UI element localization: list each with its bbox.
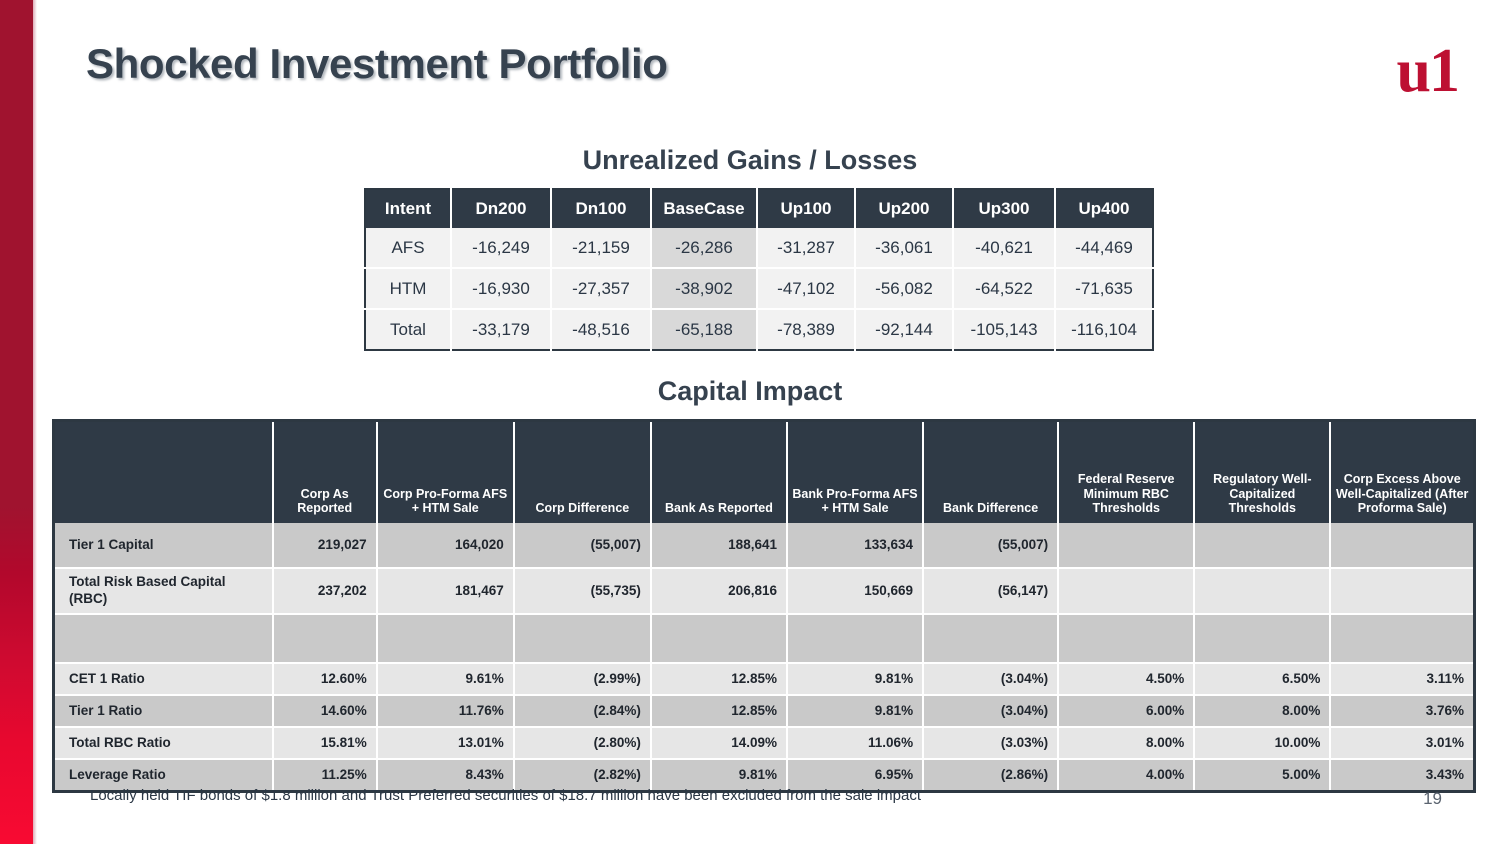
cell-dn200: -16,249 [451,228,551,268]
column-header-up300: Up300 [953,189,1055,228]
data-cell: 3.11% [1330,663,1474,695]
data-cell: 133,634 [787,523,923,568]
cell-up400: -116,104 [1055,309,1153,350]
cell-basecase: -26,286 [651,228,757,268]
column-header-well-capitalized: Regulatory Well-Capitalized Thresholds [1194,421,1330,524]
data-cell: 9.61% [377,663,514,695]
cell-up400: -44,469 [1055,228,1153,268]
table-row: Total Risk Based Capital (RBC)237,202181… [54,568,1475,614]
data-cell: 206,816 [651,568,787,614]
cell-basecase: -65,188 [651,309,757,350]
table-header-row: Corp As Reported Corp Pro-Forma AFS + HT… [54,421,1475,524]
column-header-row-label [54,421,273,524]
cell-dn100: -27,357 [551,268,651,309]
data-cell [1058,568,1194,614]
table-row: AFS -16,249 -21,159 -26,286 -31,287 -36,… [365,228,1153,268]
page-number: 19 [1423,789,1442,809]
data-cell [1058,523,1194,568]
column-header-up200: Up200 [855,189,953,228]
cell-dn200: -33,179 [451,309,551,350]
column-header-bank-as-reported: Bank As Reported [651,421,787,524]
data-cell: 219,027 [273,523,377,568]
capital-impact-table: Corp As Reported Corp Pro-Forma AFS + HT… [52,419,1476,793]
data-cell: 13.01% [377,727,514,759]
table-row: Tier 1 Ratio14.60%11.76%(2.84%)12.85%9.8… [54,695,1475,727]
data-cell: (3.04%) [923,663,1058,695]
data-cell: 237,202 [273,568,377,614]
column-header-bank-difference: Bank Difference [923,421,1058,524]
data-cell: 4.50% [1058,663,1194,695]
data-cell: (2.84%) [514,695,651,727]
data-cell: 3.76% [1330,695,1474,727]
data-cell: (3.04%) [923,695,1058,727]
left-accent-shadow [33,0,37,844]
u1-logo: u1 [1397,40,1458,102]
table-row [54,614,1475,663]
data-cell [787,614,923,663]
data-cell: 9.81% [787,695,923,727]
column-header-basecase: BaseCase [651,189,757,228]
cell-basecase: -38,902 [651,268,757,309]
column-header-corp-difference: Corp Difference [514,421,651,524]
row-label: Tier 1 Ratio [54,695,273,727]
capital-impact-heading: Capital Impact [0,376,1500,407]
data-cell: 3.01% [1330,727,1474,759]
row-label: CET 1 Ratio [54,663,273,695]
data-cell [1058,614,1194,663]
cell-dn100: -21,159 [551,228,651,268]
column-header-intent: Intent [365,189,451,228]
cell-up100: -78,389 [757,309,855,350]
data-cell: 188,641 [651,523,787,568]
data-cell: 9.81% [787,663,923,695]
data-cell: (55,007) [923,523,1058,568]
data-cell: 3.43% [1330,759,1474,792]
data-cell: 15.81% [273,727,377,759]
column-header-up100: Up100 [757,189,855,228]
data-cell: (2.99%) [514,663,651,695]
cell-up100: -47,102 [757,268,855,309]
cell-up200: -36,061 [855,228,953,268]
row-label: Total Risk Based Capital (RBC) [54,568,273,614]
data-cell [1194,523,1330,568]
cell-up300: -40,621 [953,228,1055,268]
data-cell [1194,614,1330,663]
data-cell: 12.60% [273,663,377,695]
column-header-dn100: Dn100 [551,189,651,228]
data-cell: 10.00% [1194,727,1330,759]
data-cell: 164,020 [377,523,514,568]
data-cell [273,614,377,663]
data-cell [1330,614,1474,663]
data-cell: (3.03%) [923,727,1058,759]
cell-up200: -56,082 [855,268,953,309]
cell-up300: -105,143 [953,309,1055,350]
cell-dn100: -48,516 [551,309,651,350]
data-cell: 12.85% [651,663,787,695]
data-cell [1330,568,1474,614]
column-header-fed-minimum-rbc: Federal Reserve Minimum RBC Thresholds [1058,421,1194,524]
data-cell: 150,669 [787,568,923,614]
cell-intent: AFS [365,228,451,268]
row-label: Tier 1 Capital [54,523,273,568]
cell-up200: -92,144 [855,309,953,350]
column-header-corp-excess: Corp Excess Above Well-Capitalized (Afte… [1330,421,1474,524]
cell-up300: -64,522 [953,268,1055,309]
data-cell: 11.06% [787,727,923,759]
unrealized-gains-losses-heading: Unrealized Gains / Losses [0,145,1500,176]
cell-up400: -71,635 [1055,268,1153,309]
row-label: Total RBC Ratio [54,727,273,759]
cell-intent: Total [365,309,451,350]
column-header-bank-pro-forma: Bank Pro-Forma AFS + HTM Sale [787,421,923,524]
data-cell: 14.09% [651,727,787,759]
table-row: HTM -16,930 -27,357 -38,902 -47,102 -56,… [365,268,1153,309]
table-row: Tier 1 Capital219,027164,020(55,007)188,… [54,523,1475,568]
column-header-dn200: Dn200 [451,189,551,228]
data-cell: 5.00% [1194,759,1330,792]
data-cell: 12.85% [651,695,787,727]
data-cell: 181,467 [377,568,514,614]
data-cell: 4.00% [1058,759,1194,792]
column-header-corp-as-reported: Corp As Reported [273,421,377,524]
data-cell [1194,568,1330,614]
data-cell [923,614,1058,663]
footnote-text: Locally held TIF bonds of $1.8 million a… [90,787,921,804]
data-cell: 11.76% [377,695,514,727]
data-cell: 6.00% [1058,695,1194,727]
data-cell: (55,735) [514,568,651,614]
column-header-corp-pro-forma: Corp Pro-Forma AFS + HTM Sale [377,421,514,524]
unrealized-gains-losses-table: Intent Dn200 Dn100 BaseCase Up100 Up200 … [364,188,1154,351]
column-header-up400: Up400 [1055,189,1153,228]
cell-dn200: -16,930 [451,268,551,309]
data-cell: (55,007) [514,523,651,568]
left-accent-bar [0,0,33,844]
data-cell: 8.00% [1058,727,1194,759]
table-row: CET 1 Ratio12.60%9.61%(2.99%)12.85%9.81%… [54,663,1475,695]
cell-intent: HTM [365,268,451,309]
data-cell: (2.80%) [514,727,651,759]
data-cell: 14.60% [273,695,377,727]
table-header-row: Intent Dn200 Dn100 BaseCase Up100 Up200 … [365,189,1153,228]
data-cell: (56,147) [923,568,1058,614]
table-row: Total -33,179 -48,516 -65,188 -78,389 -9… [365,309,1153,350]
data-cell [514,614,651,663]
data-cell: (2.86%) [923,759,1058,792]
data-cell [377,614,514,663]
page-title: Shocked Investment Portfolio [86,40,668,88]
data-cell: 6.50% [1194,663,1330,695]
data-cell [1330,523,1474,568]
table-row: Total RBC Ratio15.81%13.01%(2.80%)14.09%… [54,727,1475,759]
cell-up100: -31,287 [757,228,855,268]
data-cell: 8.00% [1194,695,1330,727]
data-cell [651,614,787,663]
row-label [54,614,273,663]
